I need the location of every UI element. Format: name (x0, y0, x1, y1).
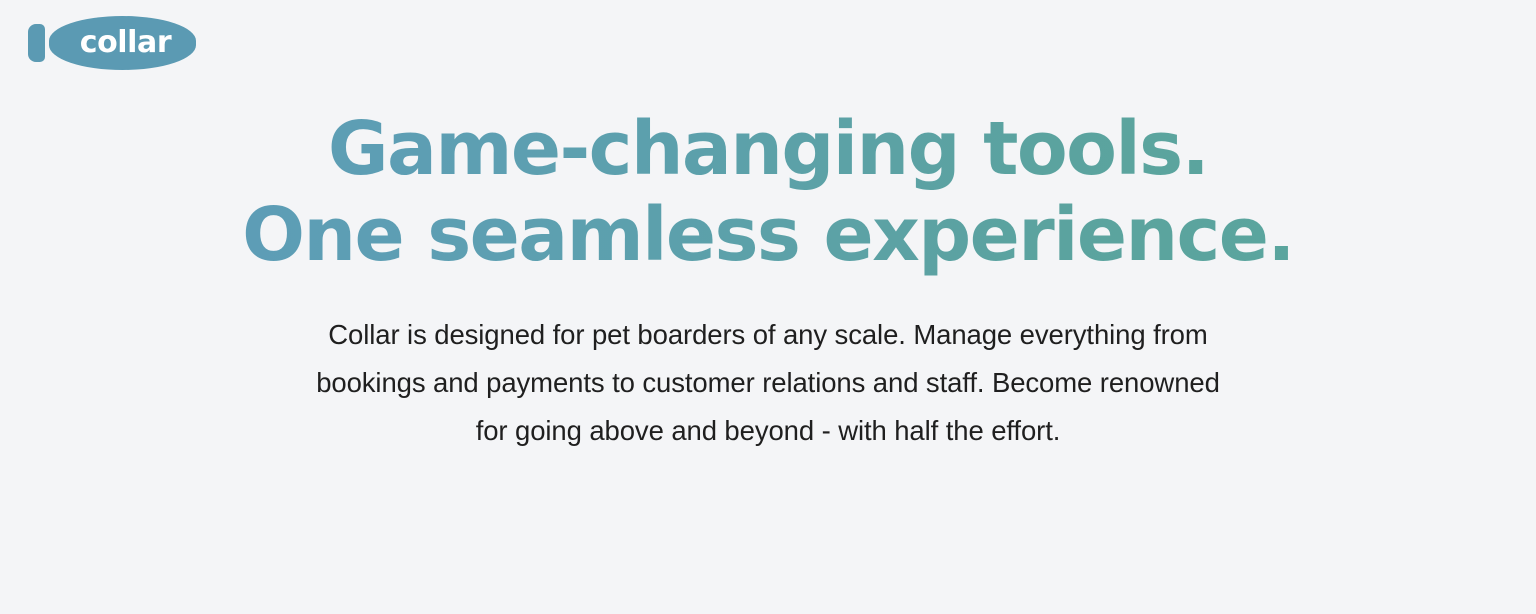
subcopy-line-2: bookings and payments to customer relati… (158, 359, 1378, 407)
subcopy-line-1: Collar is designed for pet boarders of a… (158, 311, 1378, 359)
hero-section: Game-changing tools. One seamless experi… (0, 96, 1536, 455)
headline-line-1: Game-changing tools. (0, 106, 1536, 192)
site-header: collar (0, 0, 1536, 96)
brand-wordmark: collar (49, 16, 196, 70)
page-title: Game-changing tools. One seamless experi… (0, 96, 1536, 278)
hero-subcopy: Collar is designed for pet boarders of a… (158, 278, 1378, 455)
subcopy-line-3: for going above and beyond - with half t… (158, 407, 1378, 455)
landing-page: collar Game-changing tools. One seamless… (0, 0, 1536, 614)
headline-line-2: One seamless experience. (0, 192, 1536, 278)
brand-logo-link[interactable]: collar (28, 14, 196, 72)
collar-tag-logo-buckle-icon (28, 24, 45, 62)
